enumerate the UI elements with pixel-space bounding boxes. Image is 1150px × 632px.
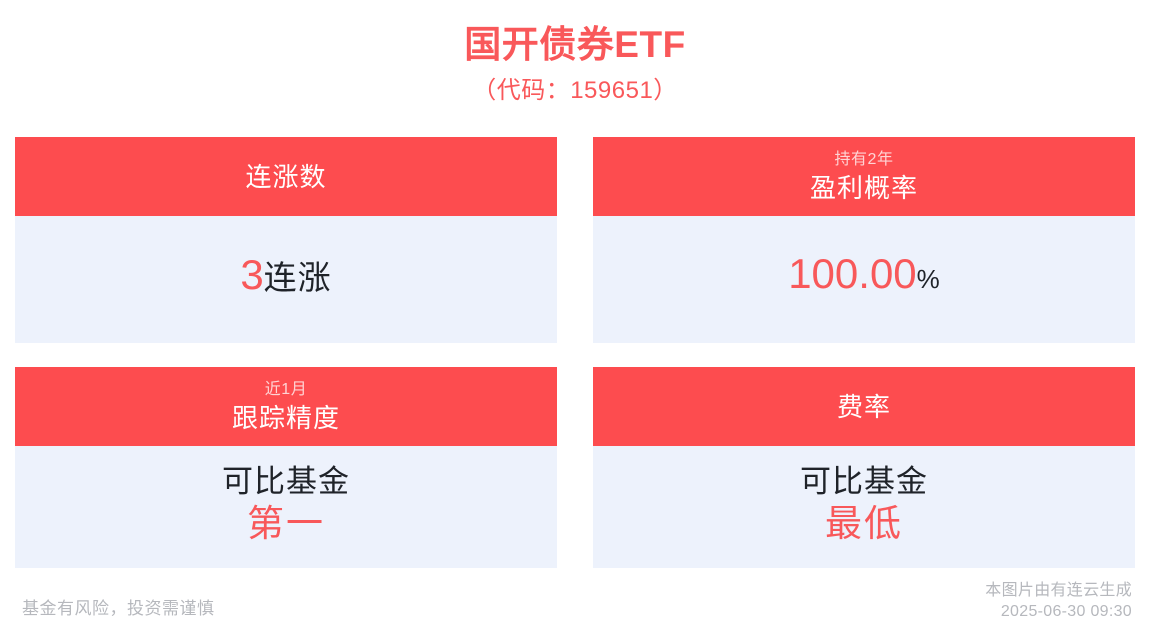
metric-card-fee-rate: 费率 可比基金 最低 [593, 367, 1135, 568]
metric-value-bottom: 第一 [247, 502, 325, 546]
card-sublabel: 持有2年 [835, 150, 894, 170]
metric-value-primary: 3 [240, 250, 263, 300]
card-body: 可比基金 最低 [593, 446, 1135, 568]
card-title: 费率 [837, 391, 891, 423]
generation-source: 本图片由有连云生成 [985, 580, 1132, 601]
risk-disclaimer: 基金有风险，投资需谨慎 [22, 596, 215, 622]
metric-card-profit-probability: 持有2年 盈利概率 100.00 % [593, 137, 1135, 343]
page-title: 国开债券ETF [0, 22, 1150, 68]
card-header: 连涨数 [15, 137, 557, 216]
metric-value-top: 可比基金 [222, 462, 350, 502]
metric-value: 3 连涨 [240, 250, 331, 303]
metric-value-secondary: 连涨 [264, 253, 332, 303]
card-header: 费率 [593, 367, 1135, 446]
metric-card-streak: 连涨数 3 连涨 [15, 137, 557, 343]
metric-value-secondary: % [917, 254, 940, 304]
footer: 基金有风险，投资需谨慎 本图片由有连云生成 2025-06-30 09:30 [0, 580, 1150, 622]
card-title: 跟踪精度 [232, 402, 340, 434]
metric-value-bottom: 最低 [825, 502, 903, 546]
card-title: 连涨数 [245, 161, 326, 193]
title-block: 国开债券ETF （代码：159651） [0, 0, 1150, 108]
metric-value-primary: 100.00 [788, 249, 916, 299]
metric-value: 可比基金 第一 [222, 462, 350, 546]
card-title: 盈利概率 [810, 172, 918, 204]
metric-value: 可比基金 最低 [800, 462, 928, 546]
metric-value: 100.00 % [788, 249, 940, 304]
card-body: 100.00 % [593, 216, 1135, 343]
card-body: 可比基金 第一 [15, 446, 557, 568]
generation-info: 本图片由有连云生成 2025-06-30 09:30 [985, 580, 1132, 622]
fund-code-label: （代码：159651） [0, 74, 1150, 108]
metric-card-grid: 连涨数 3 连涨 持有2年 盈利概率 100.00 % [15, 137, 1135, 568]
card-header: 近1月 跟踪精度 [15, 367, 557, 446]
generation-timestamp: 2025-06-30 09:30 [985, 601, 1132, 622]
metric-value-top: 可比基金 [800, 462, 928, 502]
poster-root: 国开债券ETF （代码：159651） 连涨数 3 连涨 持有2年 盈利概率 [0, 0, 1150, 632]
card-header: 持有2年 盈利概率 [593, 137, 1135, 216]
card-body: 3 连涨 [15, 216, 557, 343]
metric-card-tracking-accuracy: 近1月 跟踪精度 可比基金 第一 [15, 367, 557, 568]
card-sublabel: 近1月 [265, 380, 307, 400]
